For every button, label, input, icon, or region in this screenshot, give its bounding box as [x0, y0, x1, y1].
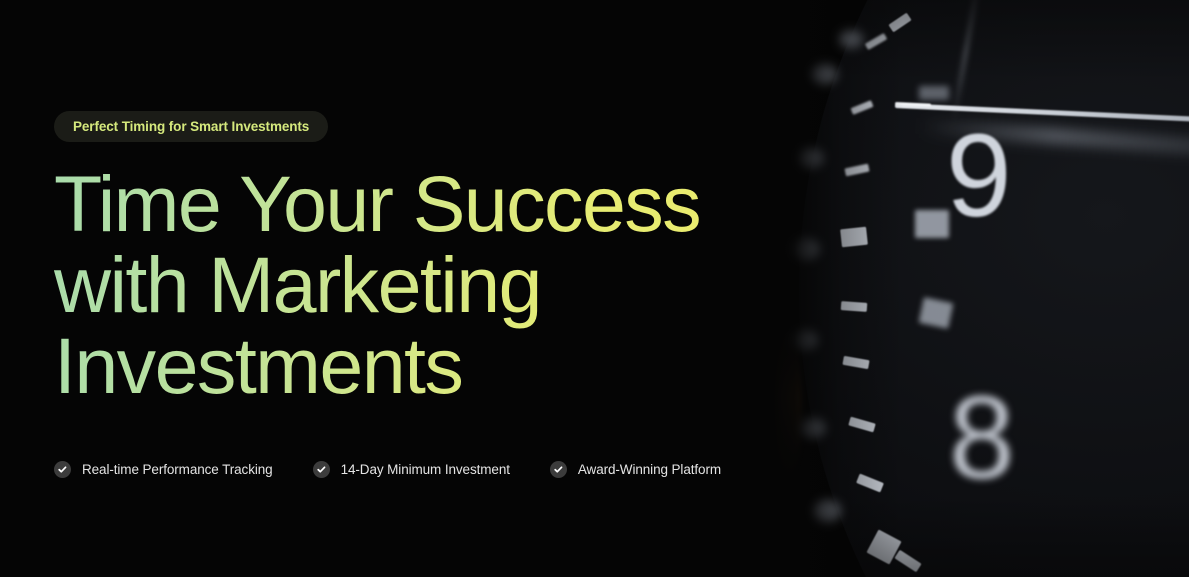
hero-section: 9 8 Perfect Timing for Smart Investments…	[0, 0, 1189, 577]
feature-item: 14-Day Minimum Investment	[313, 461, 510, 478]
feature-list: Real-time Performance Tracking 14-Day Mi…	[54, 461, 721, 478]
check-circle-icon	[550, 461, 567, 478]
feature-item: Real-time Performance Tracking	[54, 461, 273, 478]
headline-line-3: Investments	[54, 325, 754, 406]
hero-content: Perfect Timing for Smart Investments Tim…	[54, 0, 834, 577]
feature-label: Real-time Performance Tracking	[82, 462, 273, 477]
headline-line-1: Time Your Success	[54, 163, 754, 244]
page-title: Time Your Success with Marketing Investm…	[54, 163, 754, 406]
headline-line-2: with Marketing	[54, 244, 754, 325]
feature-label: Award-Winning Platform	[578, 462, 721, 477]
feature-item: Award-Winning Platform	[550, 461, 721, 478]
check-circle-icon	[54, 461, 71, 478]
feature-label: 14-Day Minimum Investment	[341, 462, 510, 477]
eyebrow-badge: Perfect Timing for Smart Investments	[54, 111, 328, 142]
check-circle-icon	[313, 461, 330, 478]
eyebrow-badge-label: Perfect Timing for Smart Investments	[73, 119, 309, 134]
